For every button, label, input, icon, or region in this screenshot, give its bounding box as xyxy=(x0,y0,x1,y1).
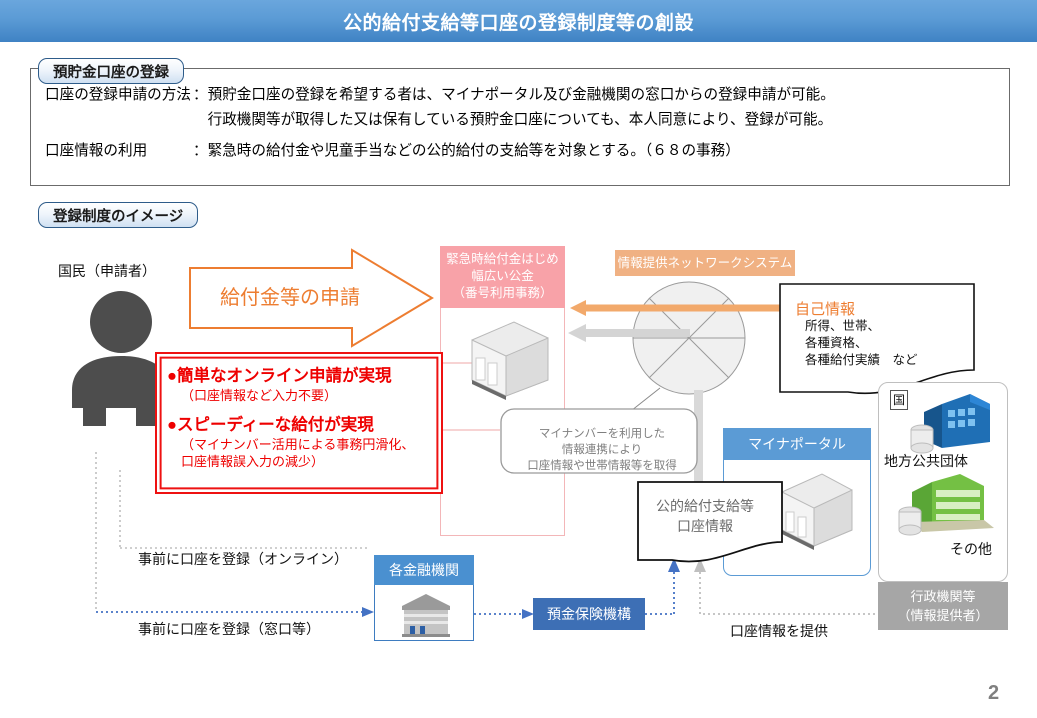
dotted-flow-dic-to-account xyxy=(645,558,680,614)
dotted-citizen-lines xyxy=(96,452,120,612)
info-box: 口座の登録申請の方法 ：預貯金口座の登録を希望する者は、マイナポータル及び金融機… xyxy=(30,68,1010,186)
financial-institution-header: 各金融機関 xyxy=(374,555,474,585)
local-government-building-icon xyxy=(898,474,998,540)
self-info-line: 各種資格、 xyxy=(805,335,918,352)
benefit-sub: 口座情報誤入力の減少） xyxy=(167,453,441,470)
server-rack-icon xyxy=(462,318,554,400)
agency-label-kuni: 国 xyxy=(890,390,908,410)
self-info-line: 所得、世帯、 xyxy=(805,318,918,335)
label-pre-register-window: 事前に口座を登録（窓口等） xyxy=(138,620,320,638)
callout-line: 口座情報 xyxy=(646,516,764,536)
benefit-sub: （口座情報など入力不要） xyxy=(167,387,441,404)
page-title: 公的給付支給等口座の登録制度等の創設 xyxy=(0,0,1037,42)
pink-line: （番号利用事務） xyxy=(440,285,565,302)
info-network-system-box: 情報提供ネットワークシステム xyxy=(615,250,795,276)
section-tab-registration-image: 登録制度のイメージ xyxy=(38,202,198,228)
agency-footer-line: 行政機関等 xyxy=(878,587,1008,606)
pink-line: 緊急時給付金はじめ xyxy=(440,251,565,268)
info-line: 行政機関等が取得した又は保有している預貯金口座についても、本人同意により、登録が… xyxy=(193,108,995,133)
callout-line: 公的給付支給等 xyxy=(646,496,764,516)
portal-server-icon xyxy=(772,472,858,552)
info-row: 口座情報の利用 ：緊急時の給付金や児童手当などの公的給付の支給等を対象とする。（… xyxy=(45,139,995,164)
page-number: 2 xyxy=(988,682,999,705)
label-pre-register-online: 事前に口座を登録（オンライン） xyxy=(138,550,348,568)
bank-building-icon xyxy=(398,588,454,638)
info-row: 口座の登録申請の方法 ：預貯金口座の登録を希望する者は、マイナポータル及び金融機… xyxy=(45,83,995,133)
apply-arrow-label: 給付金等の申請 xyxy=(200,282,380,314)
benefits-callout: ●簡単なオンライン申請が実現 （口座情報など入力不要） ●スピーディーな給付が実… xyxy=(155,352,443,494)
account-info-callout-text: 公的給付支給等 口座情報 xyxy=(646,496,764,536)
myna-portal-header: マイナポータル xyxy=(723,428,871,460)
deposit-insurance-corp-box: 預金保険機構 xyxy=(533,598,645,630)
agency-footer-line: （情報提供者） xyxy=(878,606,1008,625)
national-building-icon xyxy=(912,390,998,452)
benefit-sub: （マイナンバー活用による事務円滑化、 xyxy=(167,436,441,453)
registration-flow-diagram: 緊急時給付金はじめ 幅広い公金 （番号利用事務） 情報提供ネットワークシステム … xyxy=(0,230,1037,670)
info-line: ：緊急時の給付金や児童手当などの公的給付の支給等を対象とする。（６８の事務） xyxy=(193,139,995,164)
callout-line: 口座情報や世帯情報等を取得 xyxy=(512,458,692,474)
citizen-label: 国民（申請者） xyxy=(58,262,156,280)
benefit-heading: ●スピーディーな給付が実現 xyxy=(167,415,441,436)
benefit-heading: ●簡単なオンライン申請が実現 xyxy=(167,366,441,387)
info-line: ：預貯金口座の登録を希望する者は、マイナポータル及び金融機関の窓口からの登録申請… xyxy=(193,83,995,108)
emergency-benefit-box: 緊急時給付金はじめ 幅広い公金 （番号利用事務） xyxy=(440,246,565,308)
self-info-line: 各種給付実績 など xyxy=(805,352,918,369)
info-key: 口座の登録申請の方法 xyxy=(45,83,193,133)
agency-label-other: その他 xyxy=(950,540,992,558)
pink-line: 幅広い公金 xyxy=(440,268,565,285)
agency-label-local: 地方公共団体 xyxy=(884,452,968,470)
dotted-flow-bank-to-dic xyxy=(474,609,534,619)
section-tab-deposit-registration: 預貯金口座の登録 xyxy=(38,58,184,84)
agency-footer: 行政機関等 （情報提供者） xyxy=(878,582,1008,630)
dotted-flow-window xyxy=(96,607,374,617)
info-key: 口座情報の利用 xyxy=(45,139,193,164)
self-info-title: 自己情報 xyxy=(795,298,855,319)
label-provide-account-info: 口座情報を提供 xyxy=(730,622,828,640)
callout-line: 情報連携により xyxy=(512,442,692,458)
self-info-body: 所得、世帯、 各種資格、 各種給付実績 など xyxy=(805,318,918,369)
callout-line: マイナンバーを利用した xyxy=(512,426,692,442)
mynumber-callout-text: マイナンバーを利用した 情報連携により 口座情報や世帯情報等を取得 xyxy=(512,426,692,474)
